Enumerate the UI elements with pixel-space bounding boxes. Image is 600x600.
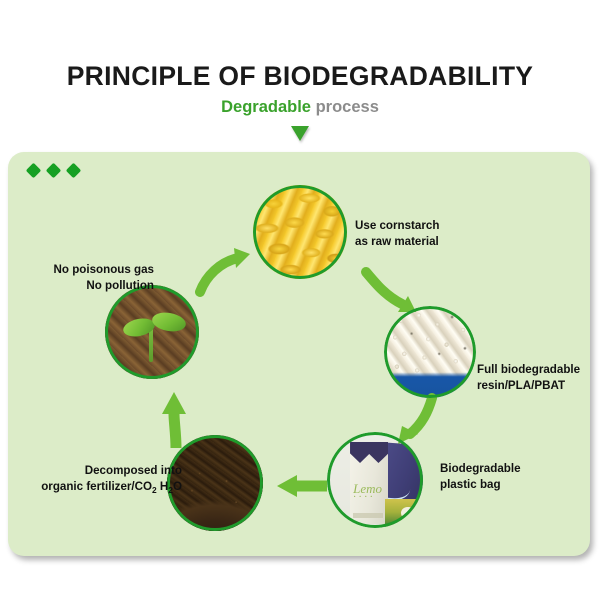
bag-bottom-band bbox=[353, 513, 383, 519]
label-compost-sub-co2: 2 bbox=[152, 485, 157, 495]
label-plastic-bag-line1: Biodegradable bbox=[440, 461, 521, 477]
label-compost-line2-pre: organic fertilizer/CO bbox=[41, 480, 152, 493]
label-compost: Decomposed into organic fertilizer/CO2 H… bbox=[16, 463, 182, 496]
down-triangle-icon bbox=[291, 126, 309, 141]
bag-sub-text: • • • • bbox=[354, 494, 374, 499]
bag-green-accent bbox=[385, 499, 421, 528]
label-cornstarch-line1: Use cornstarch bbox=[355, 218, 439, 234]
sprout-leaf-right bbox=[151, 310, 187, 333]
label-compost-line2: organic fertilizer/CO2 H2O bbox=[16, 479, 182, 495]
diamond-dot-icon bbox=[46, 163, 62, 179]
label-no-pollution-line2: No pollution bbox=[16, 278, 154, 294]
label-resin: Full biodegradable resin/PLA/PBAT bbox=[477, 362, 580, 395]
label-resin-line1: Full biodegradable bbox=[477, 362, 580, 378]
arrow-resin-to-bag bbox=[388, 392, 444, 450]
subtitle-rest: process bbox=[311, 98, 379, 116]
label-cornstarch-line2: as raw material bbox=[355, 234, 439, 250]
label-no-pollution-line1: No poisonous gas bbox=[16, 262, 154, 278]
label-no-pollution: No poisonous gas No pollution bbox=[16, 262, 154, 295]
diamond-dot-icon bbox=[66, 163, 82, 179]
node-no-pollution bbox=[105, 285, 199, 379]
bag-body: Lemo • • • • bbox=[350, 442, 388, 525]
page-title: PRINCIPLE OF BIODEGRADABILITY bbox=[0, 0, 600, 91]
label-resin-line2: resin/PLA/PBAT bbox=[477, 378, 580, 394]
seedling-sprout-photo bbox=[105, 285, 199, 379]
label-compost-sub-h2o: 2 bbox=[168, 485, 173, 495]
header: PRINCIPLE OF BIODEGRADABILITY Degradable… bbox=[0, 0, 600, 116]
arrow-bag-to-compost bbox=[273, 470, 333, 504]
infographic-root: PRINCIPLE OF BIODEGRADABILITY Degradable… bbox=[0, 0, 600, 600]
diagram-panel: Lemo • • • • bbox=[8, 152, 590, 556]
arrow-compost-to-seedling bbox=[156, 390, 192, 452]
label-compost-line2-post: O bbox=[173, 480, 182, 493]
node-cornstarch bbox=[253, 185, 347, 279]
arrow-corn-to-resin bbox=[360, 264, 422, 322]
decorative-dots bbox=[28, 165, 79, 176]
corn-kernels-photo bbox=[253, 185, 347, 279]
arrow-seedling-to-corn bbox=[194, 242, 256, 300]
label-plastic-bag: Biodegradable plastic bag bbox=[440, 461, 521, 494]
label-plastic-bag-line2: plastic bag bbox=[440, 477, 521, 493]
diamond-dot-icon bbox=[26, 163, 42, 179]
label-compost-line1: Decomposed into bbox=[16, 463, 182, 479]
label-compost-line2-mid: H bbox=[157, 480, 169, 493]
page-subtitle: Degradable process bbox=[0, 91, 600, 116]
label-cornstarch: Use cornstarch as raw material bbox=[355, 218, 439, 251]
subtitle-accent: Degradable bbox=[221, 98, 311, 116]
